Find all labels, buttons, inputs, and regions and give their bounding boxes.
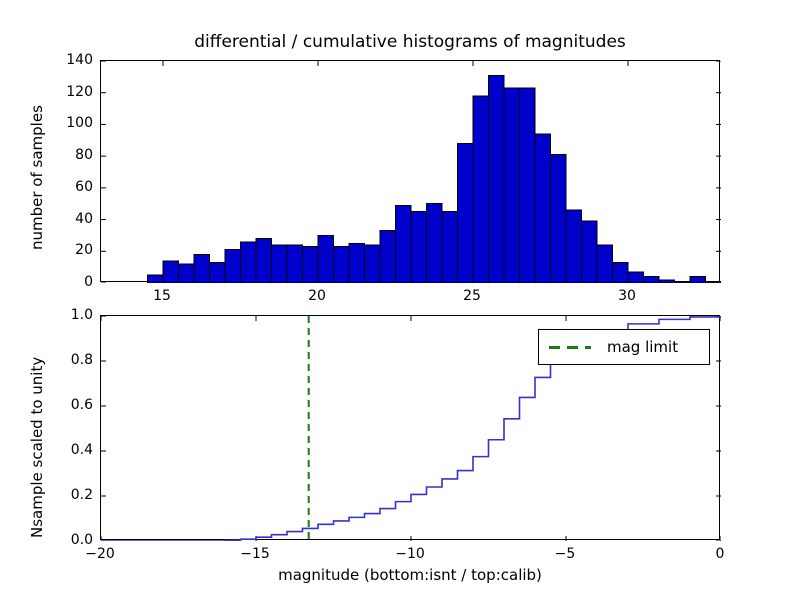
top-xtick-label: 30 — [597, 288, 657, 304]
top-ytick-label: 40 — [33, 212, 93, 226]
legend-label-mag-limit: mag limit — [607, 338, 678, 356]
bottom-ytick-label: 0.8 — [33, 353, 93, 367]
top-ytick-label: 20 — [33, 243, 93, 257]
top-xtick-label: 15 — [132, 288, 192, 304]
top-xtick-label: 25 — [442, 288, 502, 304]
bottom-ytick-label: 0.0 — [33, 533, 93, 547]
figure-xlabel: magnitude (bottom:isnt / top:calib) — [100, 566, 720, 584]
top-ytick-label: 100 — [33, 116, 93, 130]
mag-limit-line-swatch-icon — [549, 346, 591, 349]
top-ytick-label: 120 — [33, 85, 93, 99]
differential-histogram-axes — [100, 60, 720, 282]
bottom-xtick-label: −20 — [70, 546, 130, 562]
top-ytick-label: 80 — [33, 148, 93, 162]
top-ytick-label: 140 — [33, 53, 93, 67]
figure-canvas: differential / cumulative histograms of … — [0, 0, 800, 600]
figure-title: differential / cumulative histograms of … — [100, 32, 720, 52]
differential-histogram-plot — [101, 61, 721, 283]
top-ytick-label: 0 — [33, 275, 93, 289]
bottom-ytick-label: 0.4 — [33, 443, 93, 457]
top-xtick-label: 20 — [287, 288, 347, 304]
bottom-xtick-label: 0 — [690, 546, 750, 562]
bottom-xtick-label: −15 — [225, 546, 285, 562]
bottom-ytick-label: 0.6 — [33, 398, 93, 412]
bottom-xtick-label: −10 — [380, 546, 440, 562]
bottom-ytick-label: 0.2 — [33, 488, 93, 502]
legend: mag limit — [538, 329, 710, 365]
bottom-ytick-label: 1.0 — [33, 308, 93, 322]
bottom-xtick-label: −5 — [535, 546, 595, 562]
top-ytick-label: 60 — [33, 180, 93, 194]
